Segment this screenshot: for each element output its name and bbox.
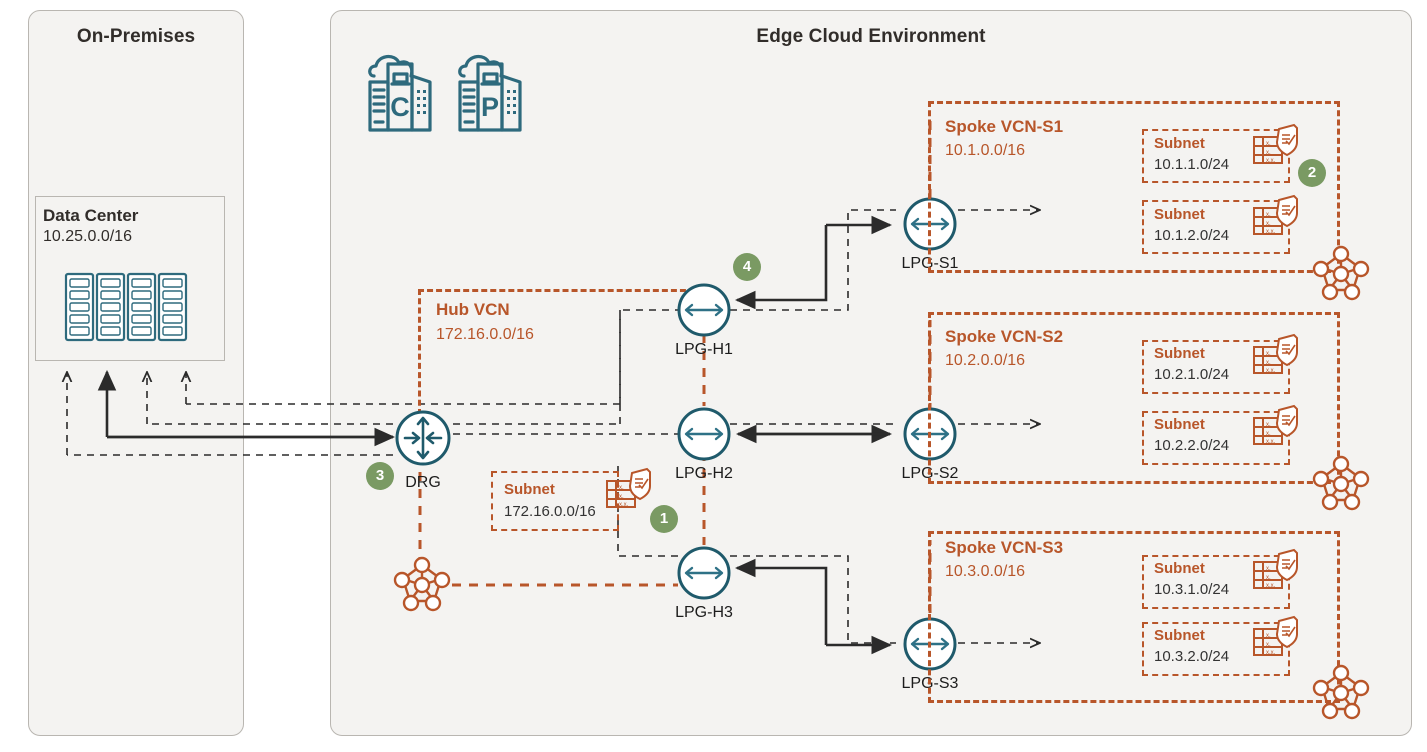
spoke-s2-subnet-1-name: Subnet (1154, 345, 1205, 362)
spoke-s1-subnet-2-cidr: 10.1.2.0/24 (1154, 227, 1229, 244)
drg-icon[interactable] (394, 409, 452, 467)
hub-subnet-cidr: 172.16.0.0/16 (504, 503, 596, 520)
edge-cloud-title: Edge Cloud Environment (330, 26, 1412, 48)
hub-vcn-name: Hub VCN (436, 300, 510, 320)
svg-text:x.: x. (1266, 642, 1271, 648)
on-premises-title: On-Premises (28, 26, 244, 48)
spoke-s1-subnet-1-name: Subnet (1154, 135, 1205, 152)
hub-subnet-name: Subnet (504, 481, 555, 498)
svg-text:x.: x. (1266, 575, 1271, 581)
network-mesh-icon (1310, 662, 1372, 724)
svg-text:P: P (481, 92, 499, 122)
svg-text:x.x.: x.x. (1266, 158, 1276, 164)
lpg-h1-icon[interactable] (676, 282, 732, 338)
spoke-vcn-s3-name: Spoke VCN-S3 (945, 538, 1063, 558)
svg-text:x.: x. (1266, 422, 1271, 428)
svg-text:x.: x. (1266, 141, 1271, 147)
svg-text:x.x.: x.x. (1266, 650, 1276, 656)
svg-text:x.: x. (1266, 431, 1271, 437)
network-mesh-icon (1310, 453, 1372, 515)
svg-text:x.: x. (1266, 360, 1271, 366)
cloud-building-c-icon: C (362, 46, 442, 134)
svg-text:x.: x. (619, 485, 624, 491)
hub-vcn-cidr: 172.16.0.0/16 (436, 326, 534, 344)
svg-text:C: C (390, 92, 410, 122)
spoke-s3-subnet-1-cidr: 10.3.1.0/24 (1154, 581, 1229, 598)
svg-text:x.: x. (1266, 566, 1271, 572)
badge-3: 3 (366, 462, 394, 490)
spoke-vcn-s3-cidr: 10.3.0.0/16 (945, 563, 1025, 581)
spoke-s2-subnet-1-cidr: 10.2.1.0/24 (1154, 366, 1229, 383)
route-table-security-list-icon: x.x.x.x. (1253, 405, 1299, 455)
diagram-canvas: On-Premises Data Center 10.25.0.0/16 (0, 0, 1427, 752)
svg-text:x.x.: x.x. (619, 502, 629, 508)
svg-text:x.: x. (1266, 150, 1271, 156)
lpg-h3-icon[interactable] (676, 545, 732, 601)
drg-label: DRG (393, 474, 453, 492)
route-table-security-list-icon: x.x.x.x. (606, 468, 652, 518)
svg-text:x.x.: x.x. (1266, 229, 1276, 235)
lpg-h3-label: LPG-H3 (662, 604, 746, 622)
hub-subnet-box (491, 471, 619, 531)
route-table-security-list-icon: x.x.x.x. (1253, 195, 1299, 245)
lpg-h2-icon[interactable] (676, 406, 732, 462)
spoke-s3-subnet-2-cidr: 10.3.2.0/24 (1154, 648, 1229, 665)
badge-4: 4 (733, 253, 761, 281)
lpg-h2-label: LPG-H2 (662, 465, 746, 483)
spoke-vcn-s1-cidr: 10.1.0.0/16 (945, 142, 1025, 160)
route-table-security-list-icon: x.x.x.x. (1253, 616, 1299, 666)
route-table-security-list-icon: x.x.x.x. (1253, 334, 1299, 384)
spoke-s2-subnet-2-cidr: 10.2.2.0/24 (1154, 437, 1229, 454)
svg-text:x.: x. (1266, 221, 1271, 227)
server-rack-icon (64, 272, 188, 342)
svg-text:x.: x. (1266, 633, 1271, 639)
network-mesh-icon (1310, 243, 1372, 305)
spoke-s3-subnet-2-name: Subnet (1154, 627, 1205, 644)
svg-text:x.x.: x.x. (1266, 439, 1276, 445)
on-premises-panel (28, 10, 244, 736)
spoke-vcn-s2-cidr: 10.2.0.0/16 (945, 352, 1025, 370)
route-table-security-list-icon: x.x.x.x. (1253, 549, 1299, 599)
spoke-s1-subnet-1-cidr: 10.1.1.0/24 (1154, 156, 1229, 173)
svg-text:x.x.: x.x. (1266, 583, 1276, 589)
route-table-security-list-icon: x.x.x.x. (1253, 124, 1299, 174)
spoke-s1-subnet-2-name: Subnet (1154, 206, 1205, 223)
cloud-building-p-icon: P (452, 46, 532, 134)
svg-text:x.: x. (1266, 351, 1271, 357)
badge-1: 1 (650, 505, 678, 533)
spoke-s2-subnet-2-name: Subnet (1154, 416, 1205, 433)
svg-text:x.: x. (619, 494, 624, 500)
svg-text:x.: x. (1266, 212, 1271, 218)
lpg-h1-label: LPG-H1 (662, 341, 746, 359)
data-center-title: Data Center (43, 206, 138, 226)
spoke-vcn-s2-name: Spoke VCN-S2 (945, 327, 1063, 347)
network-mesh-icon (391, 554, 453, 616)
badge-2: 2 (1298, 159, 1326, 187)
spoke-s3-subnet-1-name: Subnet (1154, 560, 1205, 577)
svg-text:x.x.: x.x. (1266, 368, 1276, 374)
spoke-vcn-s1-name: Spoke VCN-S1 (945, 117, 1063, 137)
data-center-cidr: 10.25.0.0/16 (43, 228, 132, 246)
